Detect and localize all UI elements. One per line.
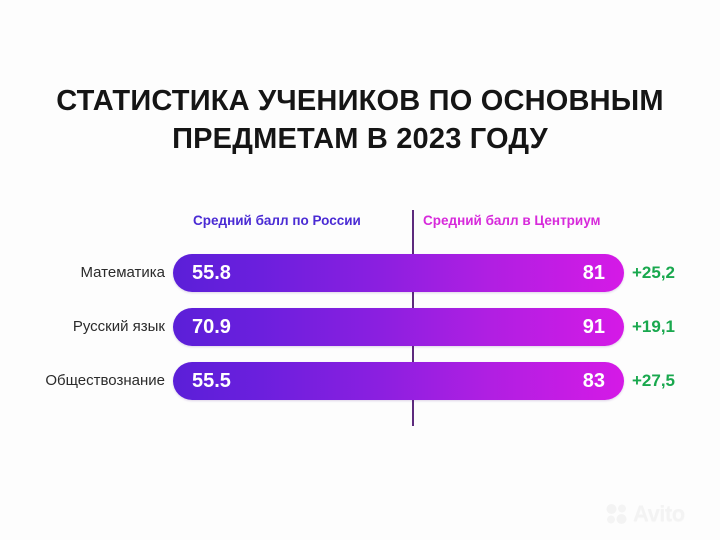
chart-row: Математика 55.8 81 +25,2 [0,254,720,292]
bar-value-russia-math: 55.8 [192,254,231,292]
row-label-math: Математика [80,254,165,292]
bar-value-russia-social: 55.5 [192,362,231,400]
delta-social: +27,5 [632,362,675,400]
bar-value-centrium-russian: 91 [583,308,605,346]
bar-value-russia-russian: 70.9 [192,308,231,346]
chart-row: Обществознание 55.5 83 +27,5 [0,362,720,400]
avito-watermark-text: Avito [633,503,685,525]
avito-logo-icon [605,503,629,525]
bar-social: 55.5 83 [173,362,624,400]
bar-value-centrium-math: 81 [583,254,605,292]
column-header-centrium: Средний балл в Центриум [423,212,601,230]
chart-rows: Математика 55.8 81 +25,2 Русский язык 70… [0,254,720,416]
column-header-russia: Средний балл по России [193,212,361,230]
chart-row: Русский язык 70.9 91 +19,1 [0,308,720,346]
delta-math: +25,2 [632,254,675,292]
row-label-russian: Русский язык [73,308,165,346]
bar-math: 55.8 81 [173,254,624,292]
comparison-bar-chart: Средний балл по России Средний балл в Це… [0,0,720,540]
delta-russian: +19,1 [632,308,675,346]
bar-value-centrium-social: 83 [583,362,605,400]
row-label-social: Обществознание [45,362,165,400]
avito-watermark: Avito [605,503,685,525]
bar-russian: 70.9 91 [173,308,624,346]
